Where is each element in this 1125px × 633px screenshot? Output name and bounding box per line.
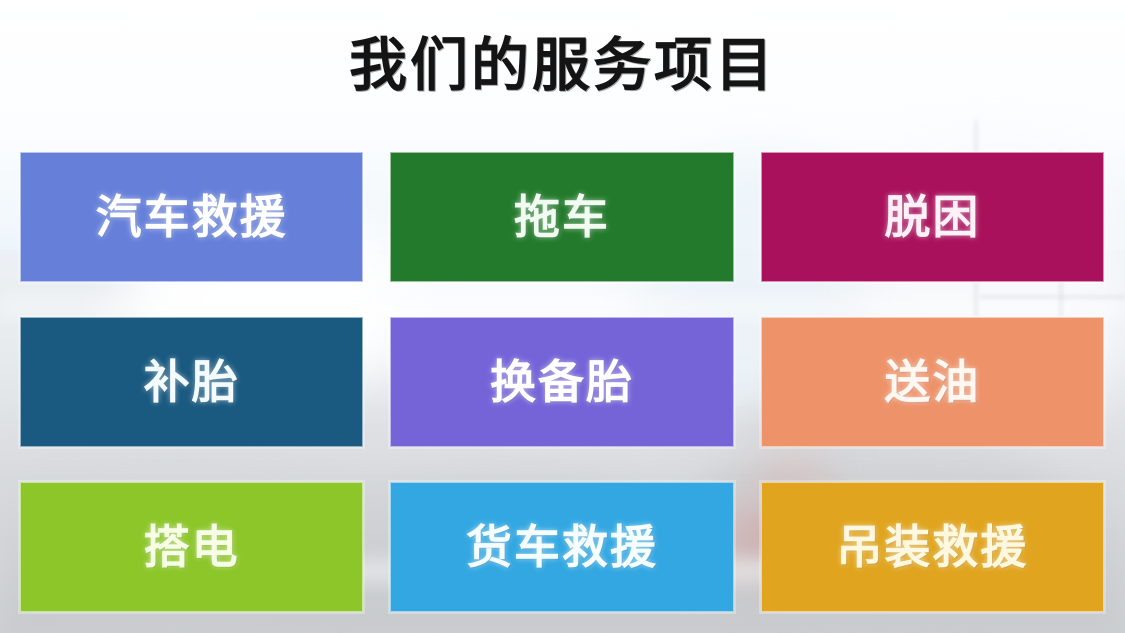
service-tile-tire-repair[interactable]: 补胎	[20, 317, 363, 447]
service-tile-label: 脱困	[884, 194, 980, 240]
service-tile-label: 换备胎	[490, 359, 634, 405]
service-tile-truck-rescue[interactable]: 货车救援	[390, 482, 733, 612]
service-tile-towing[interactable]: 拖车	[390, 152, 733, 282]
service-tile-label: 送油	[884, 359, 980, 405]
service-tile-label: 吊装救援	[836, 524, 1028, 570]
service-tile-car-rescue[interactable]: 汽车救援	[20, 152, 363, 282]
service-poster: 我们的服务项目 汽车救援 拖车 脱困 补胎 换备胎 送油 搭电 货车救援 吊装救…	[0, 0, 1125, 633]
service-tile-crane-lifting-rescue[interactable]: 吊装救援	[761, 482, 1104, 612]
service-grid: 汽车救援 拖车 脱困 补胎 换备胎 送油 搭电 货车救援 吊装救援	[20, 152, 1104, 612]
service-tile-fuel-delivery[interactable]: 送油	[761, 317, 1104, 447]
service-tile-label: 拖车	[514, 194, 610, 240]
service-tile-label: 补胎	[144, 359, 240, 405]
service-tile-label: 货车救援	[466, 524, 658, 570]
title-area: 我们的服务项目	[0, 0, 1125, 130]
service-tile-label: 汽车救援	[96, 194, 288, 240]
service-tile-spare-tire-change[interactable]: 换备胎	[390, 317, 733, 447]
page-title: 我们的服务项目	[349, 36, 776, 94]
service-tile-jump-start[interactable]: 搭电	[20, 482, 363, 612]
service-tile-extrication[interactable]: 脱困	[761, 152, 1104, 282]
service-tile-label: 搭电	[144, 524, 240, 570]
